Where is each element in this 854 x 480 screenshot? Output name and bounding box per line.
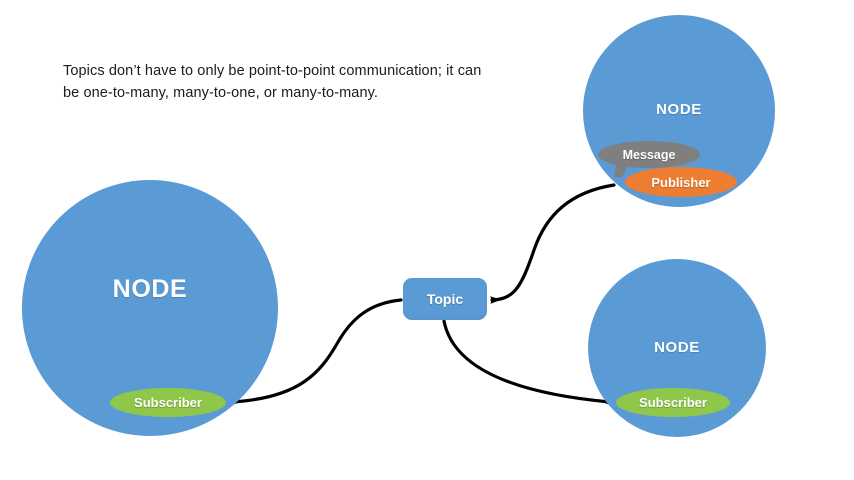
subscriber-pill-left[interactable]: Subscriber: [110, 388, 226, 417]
message-callout[interactable]: Message: [598, 141, 700, 168]
publisher-pill[interactable]: Publisher: [625, 167, 737, 197]
callout-tail-icon: [614, 165, 628, 177]
topic-box[interactable]: Topic: [403, 278, 487, 320]
node-left-label: NODE: [22, 275, 278, 304]
caption-text: Topics don’t have to only be point-to-po…: [63, 60, 483, 105]
message-label: Message: [623, 148, 676, 162]
diagram-canvas: Topics don’t have to only be point-to-po…: [0, 0, 854, 480]
node-top-right-label: NODE: [583, 101, 775, 118]
connector-publisher-to-topic: [492, 185, 614, 300]
connector-topic-to-bottom-right-subscriber: [444, 321, 610, 402]
node-bottom-right-label: NODE: [588, 339, 766, 356]
subscriber-pill-bottom-right[interactable]: Subscriber: [616, 388, 730, 417]
